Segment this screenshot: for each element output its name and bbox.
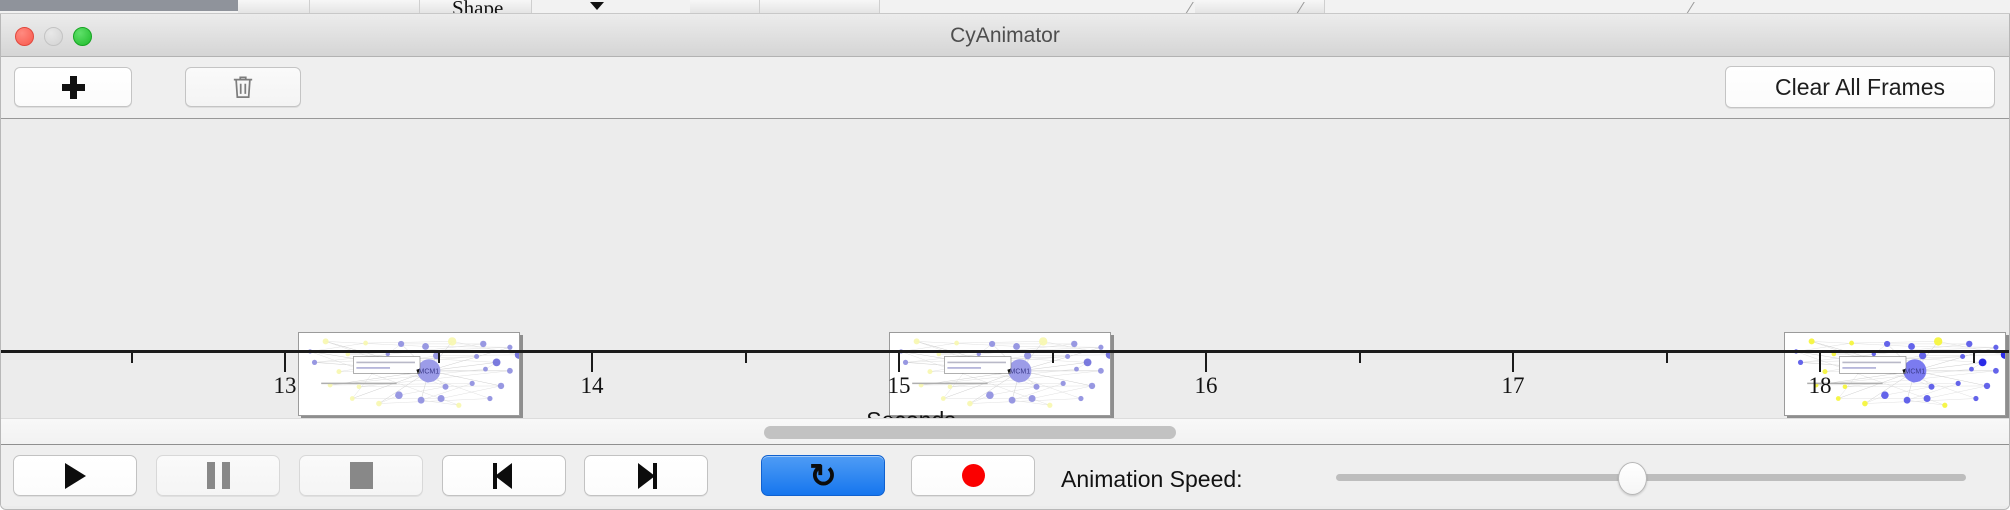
axis-tick-minor [745, 353, 747, 363]
svg-text:MCM1: MCM1 [419, 368, 440, 375]
pause-icon [207, 462, 230, 489]
frame-thumbnail[interactable]: MCM1 [889, 332, 1111, 416]
background-window-strip: Shape ∕ ∕ ∕ [0, 0, 2010, 14]
next-frame-button[interactable] [584, 455, 708, 496]
background-chip [760, 0, 880, 14]
axis-tick-minor [1052, 353, 1054, 363]
animation-speed-slider[interactable] [1336, 474, 1966, 481]
axis-tick-label: 15 [888, 373, 911, 399]
timeline-scrollbar[interactable] [1, 418, 2009, 445]
background-chip [1195, 0, 1325, 14]
background-cursor-arrow [590, 2, 604, 10]
loop-icon: ↻ [809, 461, 837, 491]
previous-frame-button[interactable] [442, 455, 566, 496]
timeline-axis [1, 350, 2009, 353]
axis-tick-minor [131, 353, 133, 363]
background-titlebar-dark [0, 0, 238, 11]
axis-tick-major [898, 353, 900, 372]
svg-text:MCM1: MCM1 [1010, 368, 1031, 375]
background-chip [690, 0, 760, 14]
axis-tick-major [1819, 353, 1821, 372]
axis-tick-major [284, 353, 286, 372]
stop-icon [350, 462, 373, 489]
play-button[interactable] [13, 455, 137, 496]
background-slash-glyph: ∕ [1690, 0, 1693, 14]
record-icon [962, 464, 985, 487]
axis-title: Seconds [866, 407, 956, 418]
axis-tick-minor [1973, 353, 1975, 363]
frame-toolbar: Clear All Frames [1, 57, 2009, 119]
play-icon [65, 463, 86, 489]
axis-tick-label: 13 [274, 373, 297, 399]
axis-tick-minor [1359, 353, 1361, 363]
delete-frame-button[interactable] [185, 67, 301, 107]
axis-tick-label: 18 [1809, 373, 1832, 399]
cyanimator-window: CyAnimator Clear All Frames MCM1 [0, 14, 2010, 510]
titlebar: CyAnimator [1, 14, 2009, 57]
animation-speed-slider-knob[interactable] [1618, 462, 1647, 495]
axis-tick-label: 14 [581, 373, 604, 399]
axis-tick-minor [1666, 353, 1668, 363]
window-title: CyAnimator [1, 24, 2009, 48]
background-chip [238, 0, 310, 14]
timeline-strip[interactable]: MCM1 MCM1 MCM1 2131415161718 Seconds [1, 119, 2009, 418]
axis-tick-major [591, 353, 593, 372]
svg-text:MCM1: MCM1 [1905, 368, 1926, 375]
axis-tick-major [1512, 353, 1514, 372]
axis-title-wrap: Seconds [1, 407, 1821, 418]
background-chip [310, 0, 420, 14]
scrollbar-thumb[interactable] [764, 426, 1176, 439]
background-window-label: Shape [452, 0, 503, 14]
axis-tick-label: 17 [1502, 373, 1525, 399]
skip-previous-icon [491, 463, 517, 489]
pause-button[interactable] [156, 455, 280, 496]
frame-thumbnail[interactable]: MCM1 [298, 332, 520, 416]
loop-button[interactable]: ↻ [761, 455, 885, 496]
add-frame-button[interactable] [14, 67, 132, 107]
skip-next-icon [633, 463, 659, 489]
plus-icon [62, 76, 85, 99]
clear-all-frames-button[interactable]: Clear All Frames [1725, 66, 1995, 108]
record-button[interactable] [911, 455, 1035, 496]
axis-tick-minor [438, 353, 440, 363]
axis-tick-label: 16 [1195, 373, 1218, 399]
playback-bar: ↻ Animation Speed: [1, 445, 2009, 506]
animation-speed-label: Animation Speed: [1061, 466, 1243, 493]
trash-icon [232, 74, 254, 100]
background-slash-glyph: ∕ [1300, 0, 1303, 14]
cyanimator-screen: Shape ∕ ∕ ∕ CyAnimator [0, 0, 2010, 510]
background-slash-glyph: ∕ [1189, 0, 1192, 14]
axis-tick-major [1205, 353, 1207, 372]
stop-button[interactable] [299, 455, 423, 496]
